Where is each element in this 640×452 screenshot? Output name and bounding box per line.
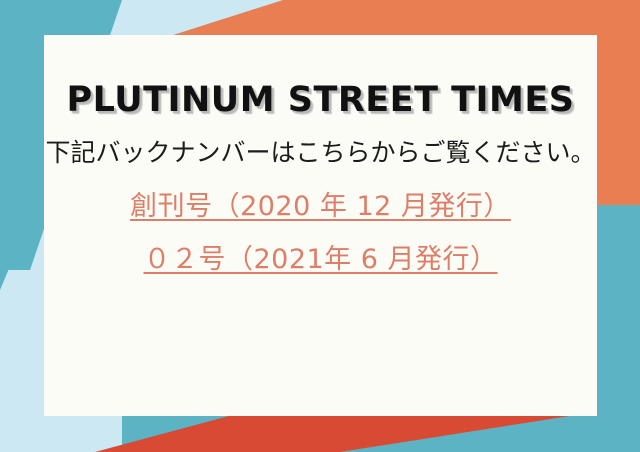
poster-canvas: PLUTINUM STREET TIMES 下記バックナンバーはこちらからご覧く… [0, 0, 640, 452]
content-card: PLUTINUM STREET TIMES 下記バックナンバーはこちらからご覧く… [44, 35, 597, 416]
orange-right-column-shape [597, 0, 640, 196]
issue-link-second[interactable]: ０２号（2021年 6 月発行） [143, 243, 497, 277]
card-content: PLUTINUM STREET TIMES 下記バックナンバーはこちらからご覧く… [44, 83, 597, 276]
issue-link-first[interactable]: 創刊号（2020 年 12 月発行） [130, 190, 511, 224]
list-item: ０２号（2021年 6 月発行） [44, 243, 597, 277]
list-item: 創刊号（2020 年 12 月発行） [44, 190, 597, 224]
page-title: PLUTINUM STREET TIMES [44, 83, 597, 118]
red-bottom-shape [95, 413, 640, 452]
red-bottom-accent-shape [160, 413, 640, 452]
light-blue-top-band-shape [97, 0, 640, 40]
subtitle-text: 下記バックナンバーはこちらからご覧ください。 [44, 139, 597, 168]
back-number-link-list: 創刊号（2020 年 12 月発行） ０２号（2021年 6 月発行） [44, 190, 597, 277]
